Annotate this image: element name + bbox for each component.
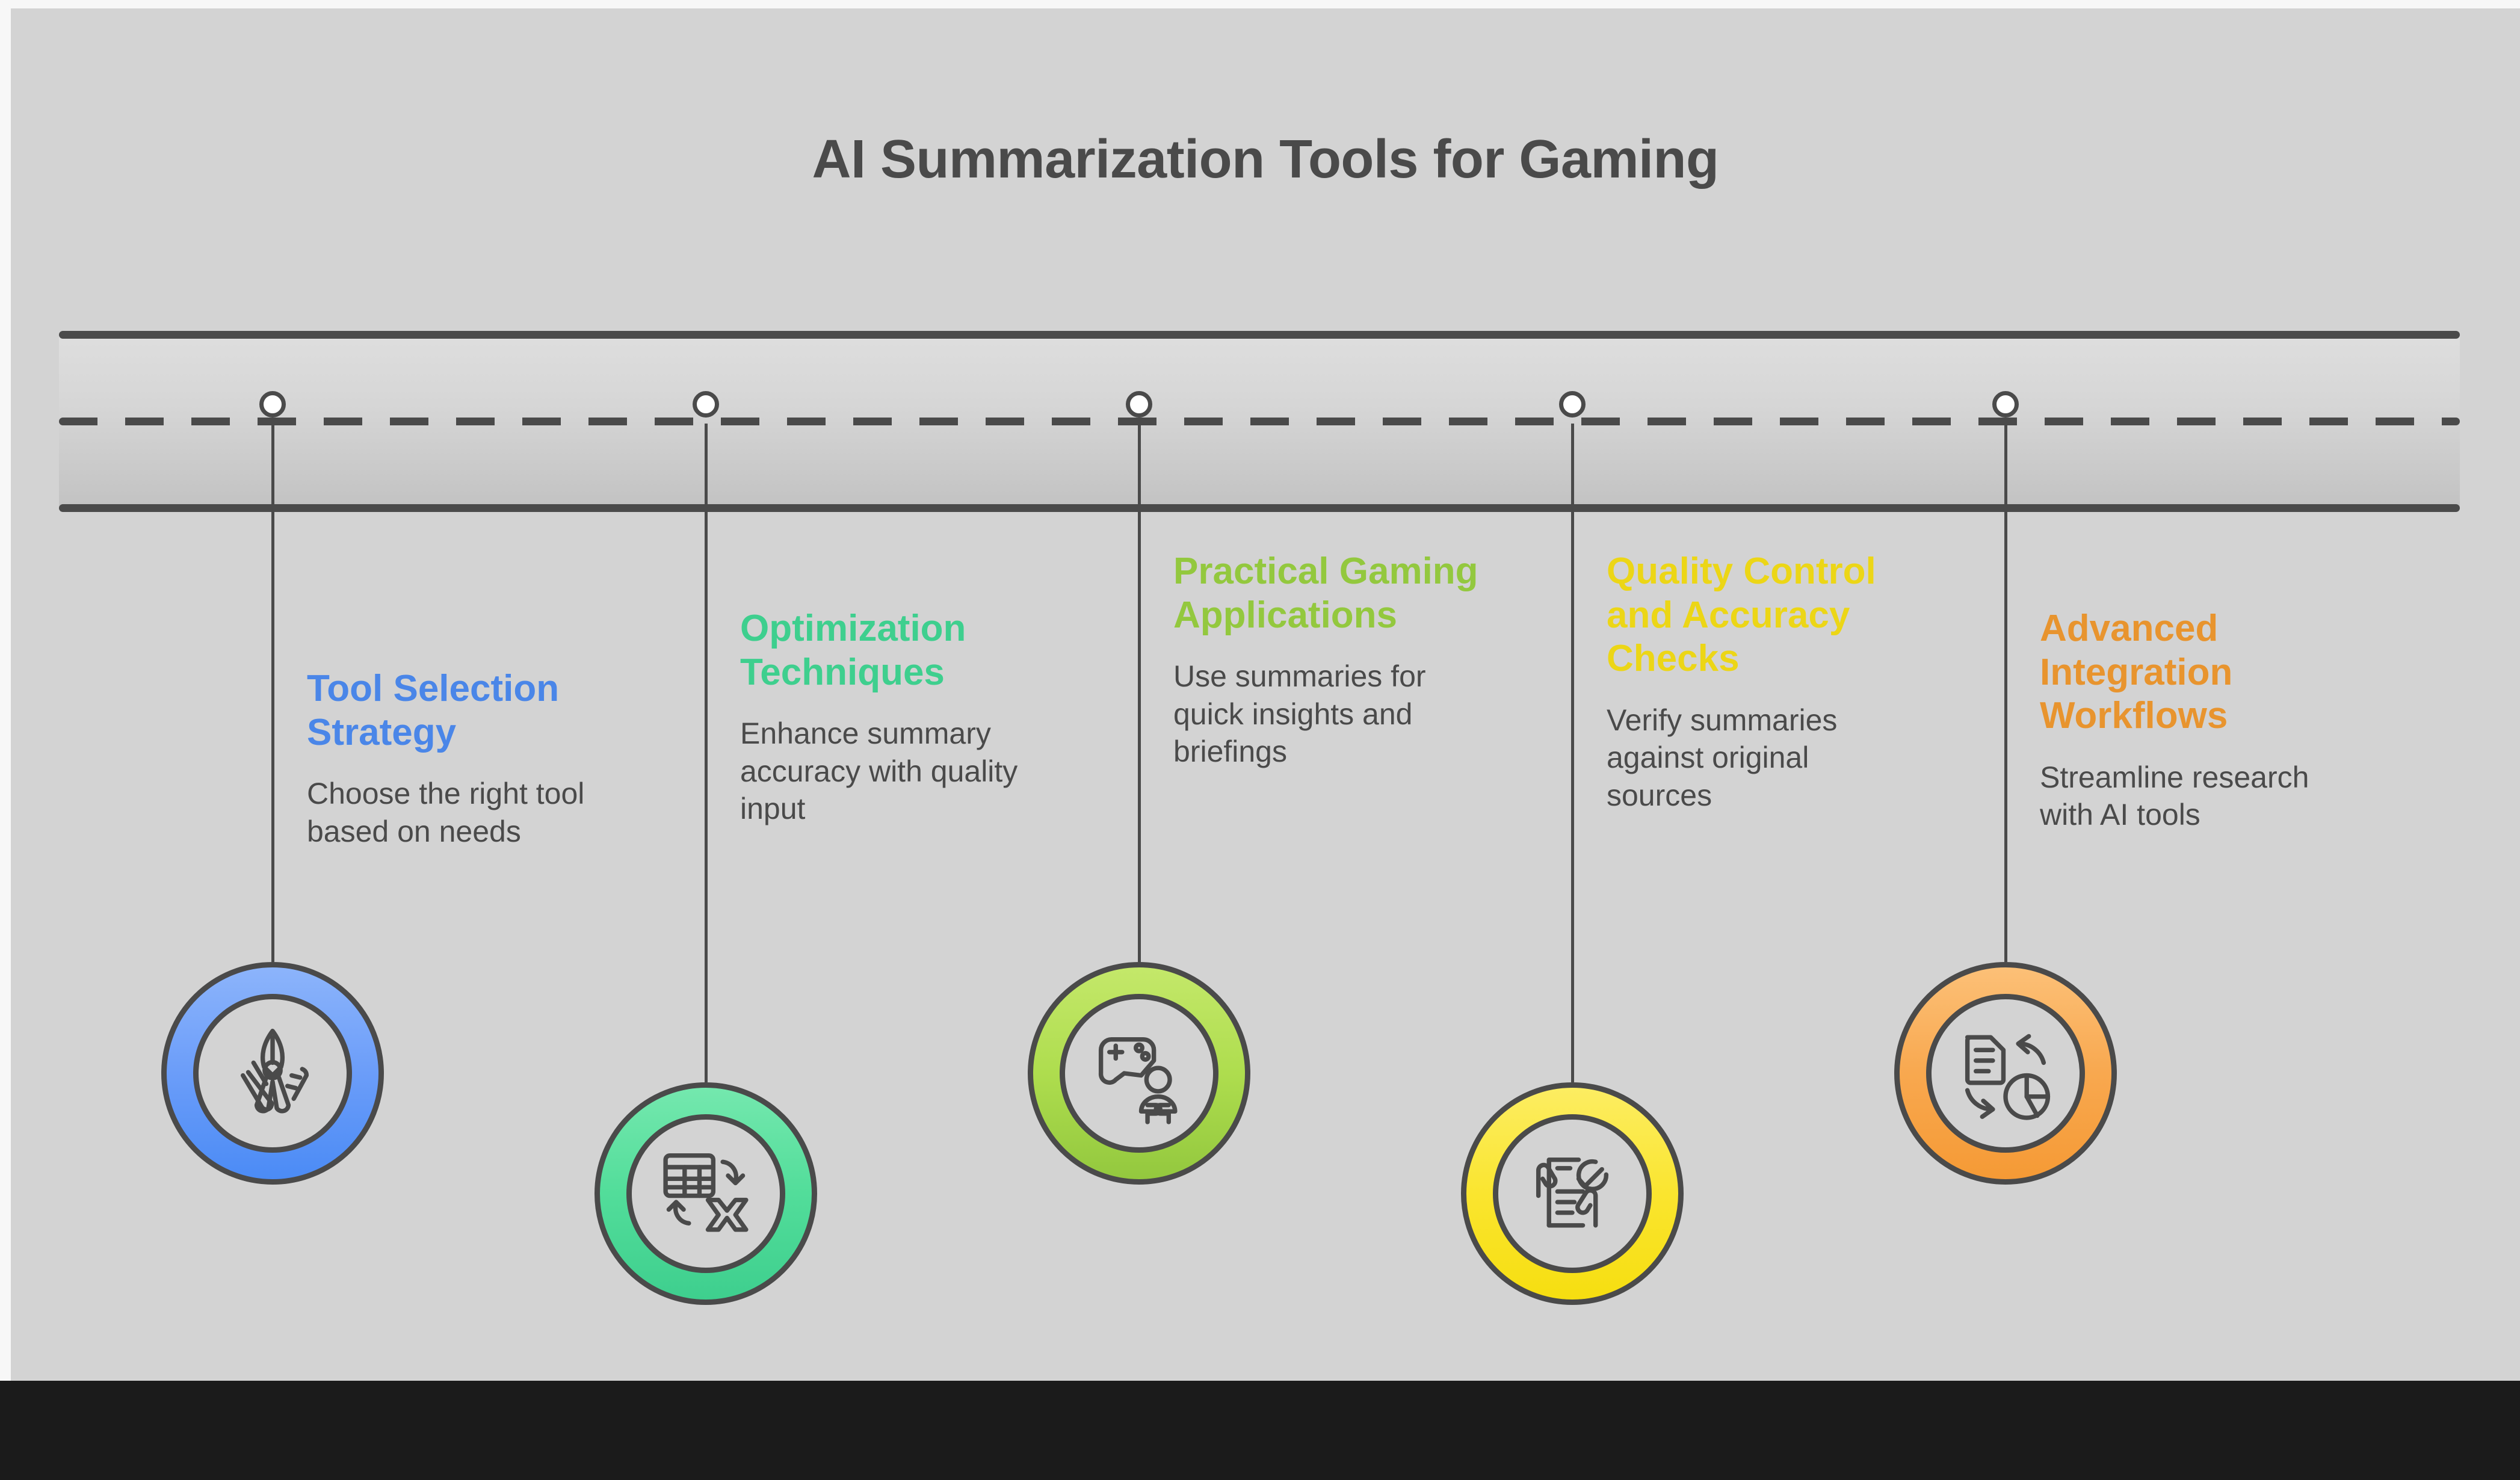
timeline-marker-icon — [1992, 391, 2019, 418]
icon-badge-quality-control-and-accuracy-checks[interactable] — [1461, 1082, 1684, 1305]
timeline-marker-icon — [1559, 391, 1586, 418]
timeline-marker-icon — [259, 391, 286, 418]
document-piechart-sync-icon — [1953, 1020, 2058, 1126]
icon-badge-practical-gaming-applications[interactable] — [1028, 962, 1250, 1185]
text-block-advanced-integration-workflows: Advanced Integration Workflows Streamlin… — [2040, 607, 2347, 834]
column-body: Enhance summary accuracy with quality in… — [740, 715, 1047, 828]
infographic-canvas: AI Summarization Tools for Gaming — [11, 8, 2520, 1381]
footer-band — [0, 1381, 2520, 1480]
infographic-frame: AI Summarization Tools for Gaming — [0, 0, 2520, 1480]
spreadsheet-convert-icon — [653, 1141, 759, 1247]
text-block-practical-gaming-applications: Practical Gaming Applications Use summar… — [1173, 550, 1480, 771]
text-block-quality-control-and-accuracy-checks: Quality Control and Accuracy Checks Veri… — [1607, 550, 1913, 814]
icon-ring — [1894, 962, 2117, 1185]
icon-ring — [161, 962, 384, 1185]
timeline-marker-icon — [1126, 391, 1152, 418]
column-heading: Tool Selection Strategy — [307, 667, 614, 754]
document-check-hands-icon — [1519, 1141, 1625, 1247]
gamepad-player-icon — [1086, 1020, 1192, 1126]
column-heading: Advanced Integration Workflows — [2040, 607, 2347, 738]
icon-disc — [1060, 994, 1218, 1153]
road-top-edge-line — [59, 331, 2460, 339]
connector-line — [1571, 424, 1574, 1082]
column-heading: Optimization Techniques — [740, 607, 1047, 694]
road-bottom-edge-line — [59, 504, 2460, 512]
column-body: Verify summaries against original source… — [1607, 701, 1913, 815]
icon-ring — [1028, 962, 1250, 1185]
icon-ring — [594, 1082, 817, 1305]
icon-badge-tool-selection-strategy[interactable] — [161, 962, 384, 1185]
icon-disc — [1493, 1114, 1652, 1273]
icon-badge-advanced-integration-workflows[interactable] — [1894, 962, 2117, 1185]
timeline-marker-icon — [693, 391, 719, 418]
icon-disc — [193, 994, 352, 1153]
text-block-optimization-techniques: Optimization Techniques Enhance summary … — [740, 607, 1047, 828]
road-dashed-centerline — [59, 418, 2460, 425]
icon-ring — [1461, 1082, 1684, 1305]
column-heading: Practical Gaming Applications — [1173, 550, 1480, 637]
text-block-tool-selection-strategy: Tool Selection Strategy Choose the right… — [307, 667, 614, 850]
page-title: AI Summarization Tools for Gaming — [11, 129, 2520, 191]
icon-disc — [1926, 994, 2085, 1153]
icon-disc — [626, 1114, 785, 1273]
column-heading: Quality Control and Accuracy Checks — [1607, 550, 1913, 681]
column-body: Choose the right tool based on needs — [307, 775, 614, 850]
connector-line — [705, 424, 708, 1082]
connector-line — [1138, 424, 1141, 962]
column-body: Use summaries for quick insights and bri… — [1173, 658, 1480, 771]
multi-tool-pliers-icon — [220, 1020, 326, 1126]
icon-badge-optimization-techniques[interactable] — [594, 1082, 817, 1305]
connector-line — [271, 424, 274, 962]
column-body: Streamline research with AI tools — [2040, 759, 2347, 834]
timeline-road — [59, 326, 2460, 517]
connector-line — [2004, 424, 2007, 962]
